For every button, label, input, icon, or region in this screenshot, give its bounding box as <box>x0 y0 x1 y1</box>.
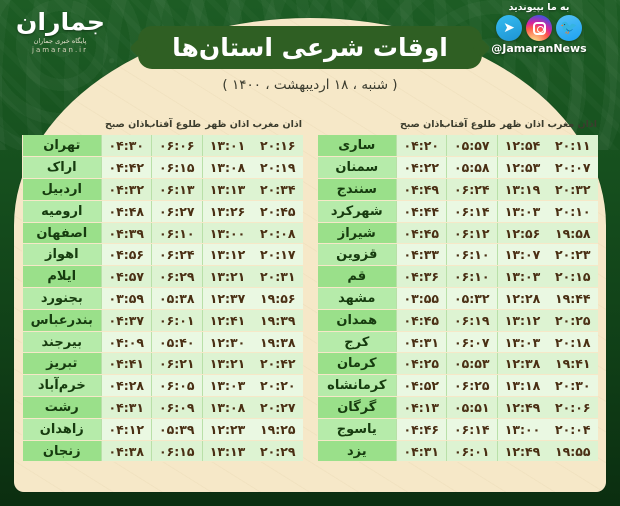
table-row: ۱۹:۵۶۱۲:۳۷۰۵:۳۸۰۳:۵۹بجنورد <box>23 288 304 310</box>
cell-city: یاسوج <box>318 418 397 440</box>
cell-fajr: ۰۴:۴۹ <box>396 179 446 201</box>
cell-fajr: ۰۴:۳۸ <box>101 440 151 462</box>
cell-city: شیراز <box>318 222 397 244</box>
social-icons: ➤ 🐦 <box>496 15 582 41</box>
col-fajr: اذان صبح <box>396 116 446 135</box>
table-row: ۱۹:۵۸۱۲:۵۶۰۶:۱۲۰۴:۴۵شیراز <box>318 222 599 244</box>
cell-maghrib: ۱۹:۴۴ <box>548 288 598 310</box>
cell-sunrise: ۰۶:۱۴ <box>447 418 497 440</box>
table-row: ۱۹:۳۸۱۲:۳۰۰۵:۴۰۰۴:۰۹بیرجند <box>23 331 304 353</box>
cell-sunrise: ۰۶:۱۵ <box>152 157 202 179</box>
table-body-right: ۲۰:۱۶۱۳:۰۱۰۶:۰۶۰۴:۳۰تهران۲۰:۱۹۱۳:۰۸۰۶:۱۵… <box>23 135 304 462</box>
cell-city: ساری <box>318 135 397 157</box>
cell-dhuhr: ۱۲:۲۳ <box>202 418 252 440</box>
cell-fajr: ۰۴:۳۷ <box>101 309 151 331</box>
cell-maghrib: ۱۹:۴۱ <box>548 353 598 375</box>
cell-dhuhr: ۱۳:۰۳ <box>497 200 547 222</box>
prayer-times-table-right: اذان مغرب اذان ظهر طلوع آفتاب اذان صبح ۲… <box>22 116 303 462</box>
cell-city: سمنان <box>318 157 397 179</box>
twitter-icon[interactable]: 🐦 <box>556 15 582 41</box>
logo-wordmark: جماران <box>15 10 104 34</box>
cell-dhuhr: ۱۳:۰۰ <box>497 418 547 440</box>
table-header-row: اذان مغرب اذان ظهر طلوع آفتاب اذان صبح <box>23 116 304 135</box>
table-row: ۲۰:۳۱۱۳:۲۱۰۶:۲۹۰۴:۵۷ایلام <box>23 266 304 288</box>
prayer-times-table-left: اذان مغرب اذان ظهر طلوع آفتاب اذان صبح ۲… <box>317 116 598 462</box>
cell-city: اردبیل <box>23 179 102 201</box>
logo-domain: jamaran.ir <box>32 46 88 54</box>
cell-dhuhr: ۱۲:۳۰ <box>202 331 252 353</box>
logo-subtitle: پایگاه خبری جماران <box>34 37 87 45</box>
cell-city: تبریز <box>23 353 102 375</box>
cell-dhuhr: ۱۳:۰۷ <box>497 244 547 266</box>
cell-maghrib: ۲۰:۱۱ <box>548 135 598 157</box>
col-fajr: اذان صبح <box>101 116 151 135</box>
cell-sunrise: ۰۵:۳۲ <box>447 288 497 310</box>
cell-fajr: ۰۴:۵۶ <box>101 244 151 266</box>
cell-sunrise: ۰۵:۳۸ <box>152 288 202 310</box>
telegram-icon[interactable]: ➤ <box>496 15 522 41</box>
page-title: اوقات شرعی استان‌ها <box>138 26 482 69</box>
cell-maghrib: ۲۰:۱۶ <box>253 135 303 157</box>
cell-dhuhr: ۱۲:۵۳ <box>497 157 547 179</box>
cell-city: سنندج <box>318 179 397 201</box>
cell-dhuhr: ۱۳:۲۶ <box>202 200 252 222</box>
cell-maghrib: ۲۰:۰۴ <box>548 418 598 440</box>
cell-fajr: ۰۴:۳۳ <box>396 244 446 266</box>
cell-dhuhr: ۱۳:۱۳ <box>202 179 252 201</box>
cell-city: اراک <box>23 157 102 179</box>
cell-sunrise: ۰۶:۰۱ <box>447 440 497 462</box>
cell-dhuhr: ۱۲:۳۷ <box>202 288 252 310</box>
cell-fajr: ۰۴:۴۱ <box>101 353 151 375</box>
cell-maghrib: ۲۰:۱۷ <box>253 244 303 266</box>
cell-fajr: ۰۴:۲۵ <box>396 353 446 375</box>
cell-fajr: ۰۴:۴۶ <box>396 418 446 440</box>
prayer-times-tables: اذان مغرب اذان ظهر طلوع آفتاب اذان صبح ۲… <box>22 116 598 462</box>
table-row: ۲۰:۱۰۱۳:۰۳۰۶:۱۴۰۴:۴۴شهرکرد <box>318 200 599 222</box>
col-sunrise: طلوع آفتاب <box>447 116 497 135</box>
jamaran-logo: جماران پایگاه خبری جماران jamaran.ir <box>8 4 112 60</box>
cell-sunrise: ۰۵:۵۳ <box>447 353 497 375</box>
cell-city: تهران <box>23 135 102 157</box>
table-row: ۱۹:۴۴۱۲:۲۸۰۵:۳۲۰۳:۵۵مشهد <box>318 288 599 310</box>
cell-sunrise: ۰۶:۱۰ <box>447 266 497 288</box>
cell-city: بندرعباس <box>23 309 102 331</box>
cell-sunrise: ۰۶:۲۱ <box>152 353 202 375</box>
cell-dhuhr: ۱۳:۰۳ <box>497 266 547 288</box>
cell-maghrib: ۲۰:۲۰ <box>253 375 303 397</box>
instagram-icon[interactable] <box>526 15 552 41</box>
cell-maghrib: ۲۰:۳۱ <box>253 266 303 288</box>
cell-maghrib: ۲۰:۳۴ <box>253 179 303 201</box>
cell-dhuhr: ۱۲:۵۶ <box>497 222 547 244</box>
table-row: ۲۰:۰۴۱۳:۰۰۰۶:۱۴۰۴:۴۶یاسوج <box>318 418 599 440</box>
table-row: ۱۹:۴۱۱۲:۳۸۰۵:۵۳۰۴:۲۵کرمان <box>318 353 599 375</box>
table-row: ۲۰:۴۲۱۳:۲۱۰۶:۲۱۰۴:۴۱تبریز <box>23 353 304 375</box>
table-row: ۲۰:۲۹۱۳:۱۳۰۶:۱۵۰۴:۳۸زنجان <box>23 440 304 462</box>
table-row: ۲۰:۲۰۱۳:۰۳۰۶:۰۵۰۴:۲۸خرم‌آباد <box>23 375 304 397</box>
cell-city: کرج <box>318 331 397 353</box>
cell-fajr: ۰۳:۵۵ <box>396 288 446 310</box>
cell-city: زنجان <box>23 440 102 462</box>
cell-maghrib: ۲۰:۰۷ <box>548 157 598 179</box>
poster-background: جماران پایگاه خبری جماران jamaran.ir به … <box>0 0 620 506</box>
cell-city: کرمانشاه <box>318 375 397 397</box>
cell-sunrise: ۰۶:۲۵ <box>447 375 497 397</box>
cell-fajr: ۰۴:۴۵ <box>396 222 446 244</box>
table-row: ۲۰:۳۲۱۳:۱۹۰۶:۲۴۰۴:۴۹سنندج <box>318 179 599 201</box>
cell-sunrise: ۰۵:۵۸ <box>447 157 497 179</box>
table-row: ۲۰:۲۷۱۳:۰۸۰۶:۰۹۰۴:۳۱رشت <box>23 397 304 419</box>
cell-sunrise: ۰۶:۰۱ <box>152 309 202 331</box>
cell-dhuhr: ۱۳:۱۲ <box>497 309 547 331</box>
cell-fajr: ۰۴:۳۱ <box>396 331 446 353</box>
cell-maghrib: ۱۹:۵۵ <box>548 440 598 462</box>
table-row: ۲۰:۱۵۱۳:۰۳۰۶:۱۰۰۴:۳۶قم <box>318 266 599 288</box>
cell-fajr: ۰۴:۳۲ <box>101 179 151 201</box>
cell-fajr: ۰۴:۳۰ <box>101 135 151 157</box>
cell-fajr: ۰۴:۲۰ <box>396 135 446 157</box>
cell-fajr: ۰۴:۳۱ <box>101 397 151 419</box>
cell-maghrib: ۱۹:۳۹ <box>253 309 303 331</box>
cell-fajr: ۰۴:۴۵ <box>396 309 446 331</box>
cell-sunrise: ۰۵:۵۱ <box>447 397 497 419</box>
table-row: ۲۰:۱۱۱۲:۵۴۰۵:۵۷۰۴:۲۰ساری <box>318 135 599 157</box>
cell-maghrib: ۱۹:۵۶ <box>253 288 303 310</box>
table-row: ۱۹:۳۹۱۲:۴۱۰۶:۰۱۰۴:۳۷بندرعباس <box>23 309 304 331</box>
cell-dhuhr: ۱۲:۴۹ <box>497 440 547 462</box>
cell-city: همدان <box>318 309 397 331</box>
cell-fajr: ۰۴:۰۹ <box>101 331 151 353</box>
col-maghrib: اذان مغرب <box>253 116 303 135</box>
cell-dhuhr: ۱۳:۲۱ <box>202 266 252 288</box>
table-row: ۲۰:۲۵۱۳:۱۲۰۶:۱۹۰۴:۴۵همدان <box>318 309 599 331</box>
cell-maghrib: ۲۰:۲۹ <box>253 440 303 462</box>
cell-dhuhr: ۱۳:۰۸ <box>202 157 252 179</box>
cell-maghrib: ۱۹:۲۵ <box>253 418 303 440</box>
cell-city: یزد <box>318 440 397 462</box>
cell-sunrise: ۰۶:۲۴ <box>152 244 202 266</box>
cell-sunrise: ۰۶:۱۲ <box>447 222 497 244</box>
table-row: ۲۰:۰۶۱۲:۴۹۰۵:۵۱۰۴:۱۳گرگان <box>318 397 599 419</box>
table-row: ۲۰:۰۷۱۲:۵۳۰۵:۵۸۰۴:۲۲سمنان <box>318 157 599 179</box>
cell-sunrise: ۰۶:۰۵ <box>152 375 202 397</box>
col-dhuhr: اذان ظهر <box>497 116 547 135</box>
col-sunrise: طلوع آفتاب <box>152 116 202 135</box>
social-handle: @JamaranNews <box>491 42 586 55</box>
cell-maghrib: ۲۰:۲۷ <box>253 397 303 419</box>
table-row: ۲۰:۱۶۱۳:۰۱۰۶:۰۶۰۴:۳۰تهران <box>23 135 304 157</box>
cell-fajr: ۰۴:۴۸ <box>101 200 151 222</box>
cell-sunrise: ۰۶:۰۶ <box>152 135 202 157</box>
cell-dhuhr: ۱۲:۵۴ <box>497 135 547 157</box>
cell-sunrise: ۰۶:۱۰ <box>447 244 497 266</box>
cell-maghrib: ۲۰:۱۸ <box>548 331 598 353</box>
cell-sunrise: ۰۵:۵۷ <box>447 135 497 157</box>
cell-city: زاهدان <box>23 418 102 440</box>
col-city <box>23 116 102 135</box>
cell-city: اهواز <box>23 244 102 266</box>
cell-city: اصفهان <box>23 222 102 244</box>
cell-dhuhr: ۱۳:۰۱ <box>202 135 252 157</box>
cell-city: قم <box>318 266 397 288</box>
cell-sunrise: ۰۶:۱۵ <box>152 440 202 462</box>
cell-fajr: ۰۴:۵۷ <box>101 266 151 288</box>
cell-fajr: ۰۴:۲۸ <box>101 375 151 397</box>
cell-maghrib: ۱۹:۵۸ <box>548 222 598 244</box>
cell-maghrib: ۲۰:۱۹ <box>253 157 303 179</box>
cell-maghrib: ۲۰:۰۸ <box>253 222 303 244</box>
cell-sunrise: ۰۶:۱۰ <box>152 222 202 244</box>
cell-city: کرمان <box>318 353 397 375</box>
table-row: ۲۰:۱۷۱۳:۱۲۰۶:۲۴۰۴:۵۶اهواز <box>23 244 304 266</box>
social-block: به ما بپیوندید ➤ 🐦 @JamaranNews <box>466 2 612 60</box>
cell-sunrise: ۰۶:۲۷ <box>152 200 202 222</box>
cell-maghrib: ۲۰:۱۵ <box>548 266 598 288</box>
cell-dhuhr: ۱۳:۱۳ <box>202 440 252 462</box>
cell-dhuhr: ۱۳:۰۳ <box>202 375 252 397</box>
cell-fajr: ۰۴:۳۱ <box>396 440 446 462</box>
cell-dhuhr: ۱۲:۲۸ <box>497 288 547 310</box>
table-header-row: اذان مغرب اذان ظهر طلوع آفتاب اذان صبح <box>318 116 599 135</box>
page-subtitle: ( شنبه ، ۱۸ اردیبهشت ، ۱۴۰۰ ) <box>0 77 620 93</box>
table-row: ۲۰:۲۳۱۳:۰۷۰۶:۱۰۰۴:۳۳قزوین <box>318 244 599 266</box>
cell-dhuhr: ۱۳:۲۱ <box>202 353 252 375</box>
cell-city: گرگان <box>318 397 397 419</box>
cell-city: بجنورد <box>23 288 102 310</box>
cell-sunrise: ۰۶:۰۹ <box>152 397 202 419</box>
cell-fajr: ۰۴:۳۶ <box>396 266 446 288</box>
cell-fajr: ۰۴:۳۹ <box>101 222 151 244</box>
table-row: ۱۹:۲۵۱۲:۲۳۰۵:۳۹۰۴:۱۲زاهدان <box>23 418 304 440</box>
cell-dhuhr: ۱۲:۴۱ <box>202 309 252 331</box>
cell-dhuhr: ۱۳:۰۸ <box>202 397 252 419</box>
cell-dhuhr: ۱۳:۱۸ <box>497 375 547 397</box>
cell-fajr: ۰۴:۱۲ <box>101 418 151 440</box>
cell-maghrib: ۲۰:۴۵ <box>253 200 303 222</box>
cell-sunrise: ۰۵:۳۹ <box>152 418 202 440</box>
cell-sunrise: ۰۶:۲۴ <box>447 179 497 201</box>
cell-sunrise: ۰۵:۴۰ <box>152 331 202 353</box>
cell-maghrib: ۲۰:۳۰ <box>548 375 598 397</box>
table-row: ۲۰:۴۵۱۳:۲۶۰۶:۲۷۰۴:۴۸ارومیه <box>23 200 304 222</box>
cell-fajr: ۰۴:۱۳ <box>396 397 446 419</box>
table-row: ۲۰:۳۴۱۳:۱۳۰۶:۱۳۰۴:۳۲اردبیل <box>23 179 304 201</box>
cell-sunrise: ۰۶:۲۹ <box>152 266 202 288</box>
cell-sunrise: ۰۶:۰۷ <box>447 331 497 353</box>
cell-maghrib: ۲۰:۱۰ <box>548 200 598 222</box>
cell-city: ارومیه <box>23 200 102 222</box>
table-row: ۲۰:۳۰۱۳:۱۸۰۶:۲۵۰۴:۵۲کرمانشاه <box>318 375 599 397</box>
col-city <box>318 116 397 135</box>
col-maghrib: اذان مغرب <box>548 116 598 135</box>
cell-dhuhr: ۱۳:۱۹ <box>497 179 547 201</box>
cell-maghrib: ۲۰:۲۵ <box>548 309 598 331</box>
cell-fajr: ۰۴:۴۲ <box>101 157 151 179</box>
cell-sunrise: ۰۶:۱۴ <box>447 200 497 222</box>
cell-sunrise: ۰۶:۱۹ <box>447 309 497 331</box>
cell-maghrib: ۲۰:۲۳ <box>548 244 598 266</box>
table-body-left: ۲۰:۱۱۱۲:۵۴۰۵:۵۷۰۴:۲۰ساری۲۰:۰۷۱۲:۵۳۰۵:۵۸۰… <box>318 135 599 462</box>
table-row: ۲۰:۱۹۱۳:۰۸۰۶:۱۵۰۴:۴۲اراک <box>23 157 304 179</box>
cell-city: مشهد <box>318 288 397 310</box>
cell-dhuhr: ۱۲:۴۹ <box>497 397 547 419</box>
cell-fajr: ۰۳:۵۹ <box>101 288 151 310</box>
cell-city: بیرجند <box>23 331 102 353</box>
cell-dhuhr: ۱۳:۰۳ <box>497 331 547 353</box>
cell-sunrise: ۰۶:۱۳ <box>152 179 202 201</box>
cell-dhuhr: ۱۳:۰۰ <box>202 222 252 244</box>
cell-maghrib: ۱۹:۳۸ <box>253 331 303 353</box>
cell-maghrib: ۲۰:۳۲ <box>548 179 598 201</box>
cell-maghrib: ۲۰:۰۶ <box>548 397 598 419</box>
cell-fajr: ۰۴:۵۲ <box>396 375 446 397</box>
table-row: ۲۰:۱۸۱۳:۰۳۰۶:۰۷۰۴:۳۱کرج <box>318 331 599 353</box>
cell-city: ایلام <box>23 266 102 288</box>
cell-city: خرم‌آباد <box>23 375 102 397</box>
cell-city: رشت <box>23 397 102 419</box>
cell-fajr: ۰۴:۴۴ <box>396 200 446 222</box>
cell-fajr: ۰۴:۲۲ <box>396 157 446 179</box>
table-row: ۱۹:۵۵۱۲:۴۹۰۶:۰۱۰۴:۳۱یزد <box>318 440 599 462</box>
join-us-label: به ما بپیوندید <box>509 2 570 13</box>
cell-dhuhr: ۱۳:۱۲ <box>202 244 252 266</box>
table-row: ۲۰:۰۸۱۳:۰۰۰۶:۱۰۰۴:۳۹اصفهان <box>23 222 304 244</box>
cell-city: قزوین <box>318 244 397 266</box>
cell-dhuhr: ۱۲:۳۸ <box>497 353 547 375</box>
cell-maghrib: ۲۰:۴۲ <box>253 353 303 375</box>
cell-city: شهرکرد <box>318 200 397 222</box>
col-dhuhr: اذان ظهر <box>202 116 252 135</box>
